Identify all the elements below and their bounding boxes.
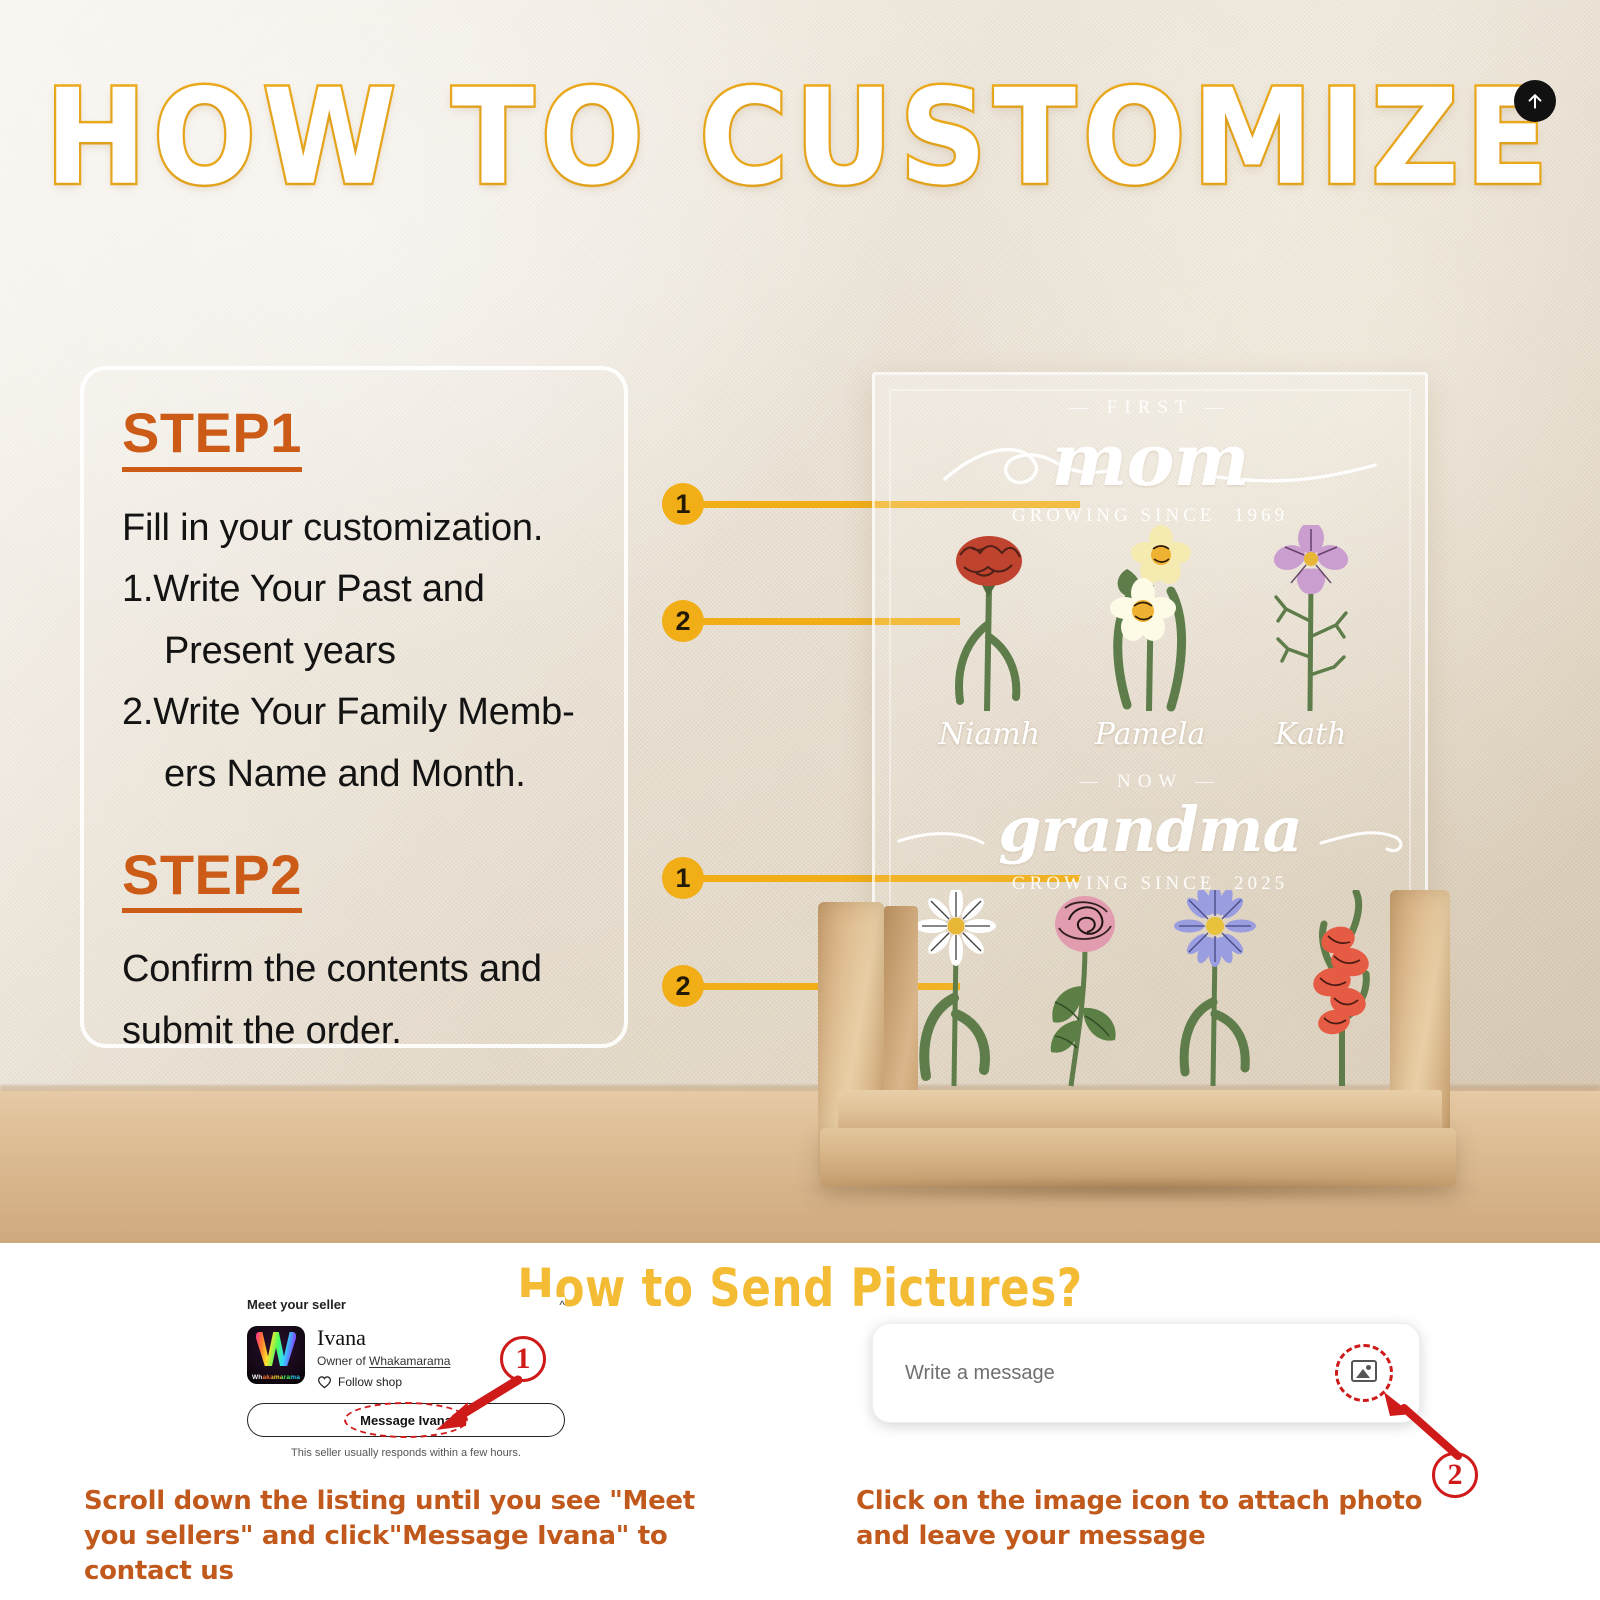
step1-line-2: 1.Write Your Past and [122, 559, 586, 621]
annotation-arrow-left [426, 1372, 522, 1436]
carnation-flower-icon [930, 525, 1048, 715]
step2-line-2: submit the order. [122, 1001, 586, 1063]
product-hero-scene: HOW TO CUSTOMIZE STEP1 Fill in your cust… [0, 0, 1600, 1243]
arrow-up-icon [1525, 91, 1545, 111]
chevron-up-icon[interactable]: ^ [559, 1298, 565, 1312]
send-pictures-title: How to Send Pictures? [0, 1257, 1600, 1318]
send-message-button[interactable] [1514, 80, 1556, 122]
flower-item-niamh: Niamh [909, 525, 1070, 752]
step1-line-5: ers Name and Month. [122, 744, 586, 806]
flower-name-pamela: Pamela [1095, 717, 1205, 752]
callout-badge: 1 [662, 483, 704, 525]
step1-line-1: Fill in your customization. [122, 498, 586, 560]
cosmos-flower-icon [1252, 525, 1370, 715]
aster-flower-icon [1163, 890, 1267, 1090]
mom-title-block: — FIRST — mom GROWING SINCE 1969 [875, 397, 1425, 527]
heart-icon [317, 1375, 332, 1389]
step1-block: STEP1 Fill in your customization. 1.Writ… [122, 404, 586, 806]
shop-logo-wordmark: Whakamarama [247, 1374, 305, 1381]
flower-item-kath: Kath [1230, 525, 1391, 752]
rose-flower-icon [1033, 890, 1137, 1090]
annotation-number-1: 1 [500, 1336, 546, 1382]
step2-body: Confirm the contents and submit the orde… [122, 939, 586, 1062]
mom-script-row: mom [875, 413, 1425, 509]
shop-name-link[interactable]: Whakamarama [369, 1354, 450, 1368]
message-input-placeholder[interactable]: Write a message [905, 1362, 1055, 1385]
step1-line-4: 2.Write Your Family Memb- [122, 682, 586, 744]
callout-badge: 1 [662, 857, 704, 899]
step2-heading: STEP2 [122, 846, 302, 914]
gladiolus-flower-icon [1292, 890, 1396, 1090]
meet-your-seller-row[interactable]: Meet your seller ^ [247, 1297, 565, 1312]
callout-badge: 2 [662, 965, 704, 1007]
follow-shop-label: Follow shop [338, 1375, 402, 1389]
daisy-flower-icon [904, 890, 1008, 1090]
message-composer[interactable]: Write a message [872, 1323, 1420, 1423]
grandma-title-block: — NOW — grandma GROWING SINCE 2025 [875, 771, 1425, 895]
owner-prefix: Owner of [317, 1354, 369, 1368]
meet-your-seller-label: Meet your seller [247, 1297, 346, 1312]
flower-item-pamela: Pamela [1070, 525, 1231, 752]
mom-script-word: mom [875, 417, 1425, 502]
mom-flower-row: Niamh [875, 525, 1425, 752]
flower-name-kath: Kath [1275, 717, 1347, 752]
shop-logo-avatar[interactable]: Whakamarama [247, 1326, 305, 1384]
steps-card: STEP1 Fill in your customization. 1.Writ… [80, 366, 628, 1048]
callout-badge: 2 [662, 600, 704, 642]
page-title: HOW TO CUSTOMIZE [0, 62, 1600, 215]
seller-owner-line: Owner of Whakamarama [317, 1354, 450, 1368]
seller-response-note: This seller usually responds within a fe… [247, 1447, 565, 1459]
step1-line-3: Present years [122, 621, 586, 683]
stand-shadow [790, 1176, 1490, 1202]
step1-heading: STEP1 [122, 404, 302, 472]
shop-logo-w-mark [256, 1332, 296, 1366]
acrylic-plaque: — FIRST — mom GROWING SINCE 1969 [872, 372, 1428, 1162]
grandma-script-row: grandma [875, 789, 1425, 879]
step1-body: Fill in your customization. 1.Write Your… [122, 498, 586, 806]
caption-left: Scroll down the listing until you see "M… [84, 1484, 724, 1588]
daffodil-flower-icon [1091, 525, 1209, 715]
caption-right: Click on the image icon to attach photo … [856, 1484, 1456, 1554]
step2-line-1: Confirm the contents and [122, 939, 586, 1001]
grandma-script-word: grandma [875, 793, 1425, 866]
seller-name: Ivana [317, 1326, 450, 1349]
flower-name-niamh: Niamh [939, 717, 1041, 752]
step2-block: STEP2 Confirm the contents and submit th… [122, 846, 586, 1063]
